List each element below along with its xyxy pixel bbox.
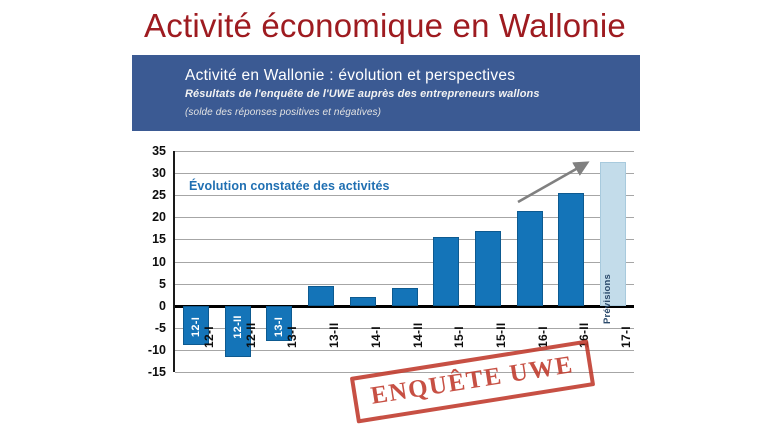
y-axis-tick-label: -10 xyxy=(140,344,166,356)
evolution-annotation: Évolution constatée des activités xyxy=(189,179,390,193)
x-axis-label-16-I: 16-I xyxy=(536,326,550,348)
y-axis-tick-label: 15 xyxy=(140,233,166,245)
gridline xyxy=(175,173,634,174)
x-axis-label-14-I: 14-I xyxy=(369,326,383,348)
y-axis-tick-label: 30 xyxy=(140,167,166,179)
y-axis-tick-label: 0 xyxy=(140,300,166,312)
y-axis-tick-label: 10 xyxy=(140,256,166,268)
bar-17-I: Prévisions xyxy=(600,162,626,306)
chart-header-banner: Activité en Wallonie : évolution et pers… xyxy=(132,55,640,131)
x-axis-label-17-I: 17-I xyxy=(619,326,633,348)
bar-inner-label-12-II: 12-II xyxy=(232,315,244,339)
y-axis-tick-label: 25 xyxy=(140,189,166,201)
chart-header-title: Activité en Wallonie : évolution et pers… xyxy=(185,65,640,86)
x-axis-label-13-I: 13-I xyxy=(285,326,299,348)
y-axis-tick-label: 35 xyxy=(140,145,166,157)
bar-inner-label-12-I: 12-I xyxy=(190,317,202,337)
chart-header-subtitle-1: Résultats de l'enquête de l'UWE auprès d… xyxy=(185,86,640,103)
x-axis-label-15-I: 15-I xyxy=(452,326,466,348)
bar-14-I xyxy=(350,297,376,306)
x-axis-label-13-II: 13-II xyxy=(327,322,341,348)
bar-15-II xyxy=(475,231,501,306)
plot-area: Évolution constatée des activités 12-I12… xyxy=(173,151,634,372)
chart-header-subtitle-2: (solde des réponses positives et négativ… xyxy=(185,103,640,122)
bar-14-II xyxy=(392,288,418,306)
bar-inner-label-13-I: 13-I xyxy=(273,317,285,337)
x-axis-label-12-I: 12-I xyxy=(202,326,216,348)
y-axis-tick-label: 20 xyxy=(140,211,166,223)
bar-16-I xyxy=(517,211,543,306)
x-axis-label-15-II: 15-II xyxy=(494,322,508,348)
y-axis-tick-label: -5 xyxy=(140,322,166,334)
y-axis-tick-label: 5 xyxy=(140,278,166,290)
bar-16-II xyxy=(558,193,584,306)
gridline xyxy=(175,151,634,152)
page-title: Activité économique en Wallonie xyxy=(0,4,770,48)
y-axis-tick-label: -15 xyxy=(140,366,166,378)
x-axis-label-14-II: 14-II xyxy=(411,322,425,348)
forecast-caption: Prévisions xyxy=(602,274,613,324)
bar-15-I xyxy=(433,237,459,306)
x-axis-label-12-II: 12-II xyxy=(244,322,258,348)
bar-13-II xyxy=(308,286,334,306)
